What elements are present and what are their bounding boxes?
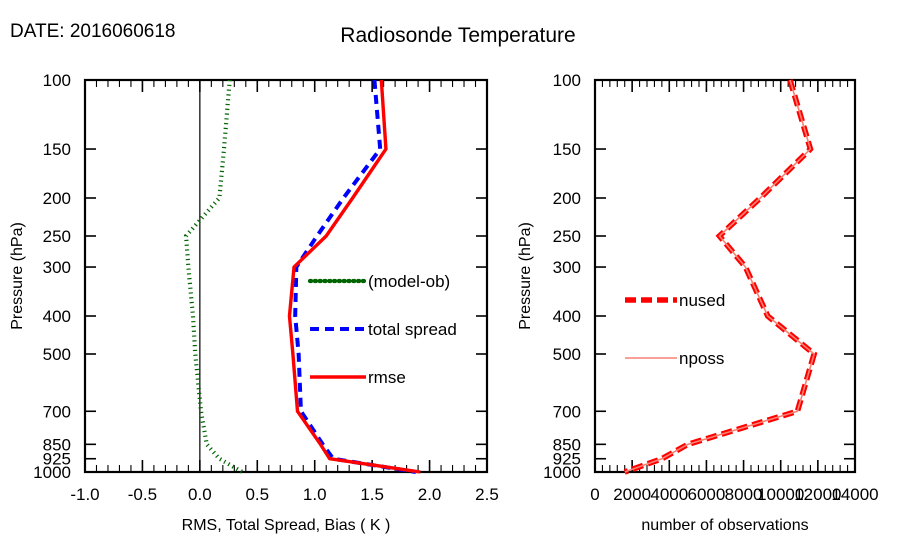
y-tick-label: 700 [43, 402, 71, 421]
x-tick-label: 1.0 [303, 485, 327, 504]
y-tick-label: 400 [43, 307, 71, 326]
y-tick-label: 150 [43, 140, 71, 159]
y-tick-label: 1000 [543, 463, 581, 482]
figure-title: Radiosonde Temperature [340, 24, 575, 47]
y-tick-label: 100 [553, 71, 581, 90]
x-tick-label: 2.0 [418, 485, 442, 504]
y-tick-label: 300 [553, 258, 581, 277]
x-tick-label: 2000 [613, 485, 651, 504]
x-tick-label: 0.0 [188, 485, 212, 504]
x-axis-title: RMS, Total Spread, Bias ( K ) [182, 517, 391, 534]
y-tick-label: 700 [553, 402, 581, 421]
x-tick-label: -0.5 [128, 485, 157, 504]
radiosonde-figure: DATE: 2016060618 Radiosonde Temperature … [0, 0, 900, 560]
y-tick-label: 300 [43, 258, 71, 277]
x-axis-title: number of observations [641, 517, 808, 534]
x-tick-label: 1.5 [360, 485, 384, 504]
x-tick-label: 2.5 [475, 485, 499, 504]
y-tick-label: 1000 [33, 463, 71, 482]
y-tick-label: 150 [553, 140, 581, 159]
x-tick-label: 0.5 [245, 485, 269, 504]
y-tick-label: 400 [553, 307, 581, 326]
legend-label: nposs [679, 349, 724, 368]
y-axis-title: Pressure (hPa) [517, 222, 534, 330]
y-tick-label: 200 [43, 189, 71, 208]
x-tick-label: 6000 [688, 485, 726, 504]
x-tick-label: -1.0 [70, 485, 99, 504]
legend-label: total spread [368, 320, 457, 339]
y-tick-label: 250 [43, 227, 71, 246]
y-tick-label: 200 [553, 189, 581, 208]
legend-label: rmse [368, 368, 406, 387]
x-tick-label: 4000 [650, 485, 688, 504]
y-tick-label: 100 [43, 71, 71, 90]
y-tick-label: 500 [43, 345, 71, 364]
y-tick-label: 250 [553, 227, 581, 246]
y-axis-title: Pressure (hPa) [9, 222, 26, 330]
legend-label: nused [679, 291, 725, 310]
date-label: DATE: 2016060618 [10, 21, 176, 42]
y-tick-label: 500 [553, 345, 581, 364]
legend-label: (model-ob) [368, 272, 450, 291]
x-tick-label: 0 [590, 485, 599, 504]
x-tick-label: 14000 [831, 485, 878, 504]
